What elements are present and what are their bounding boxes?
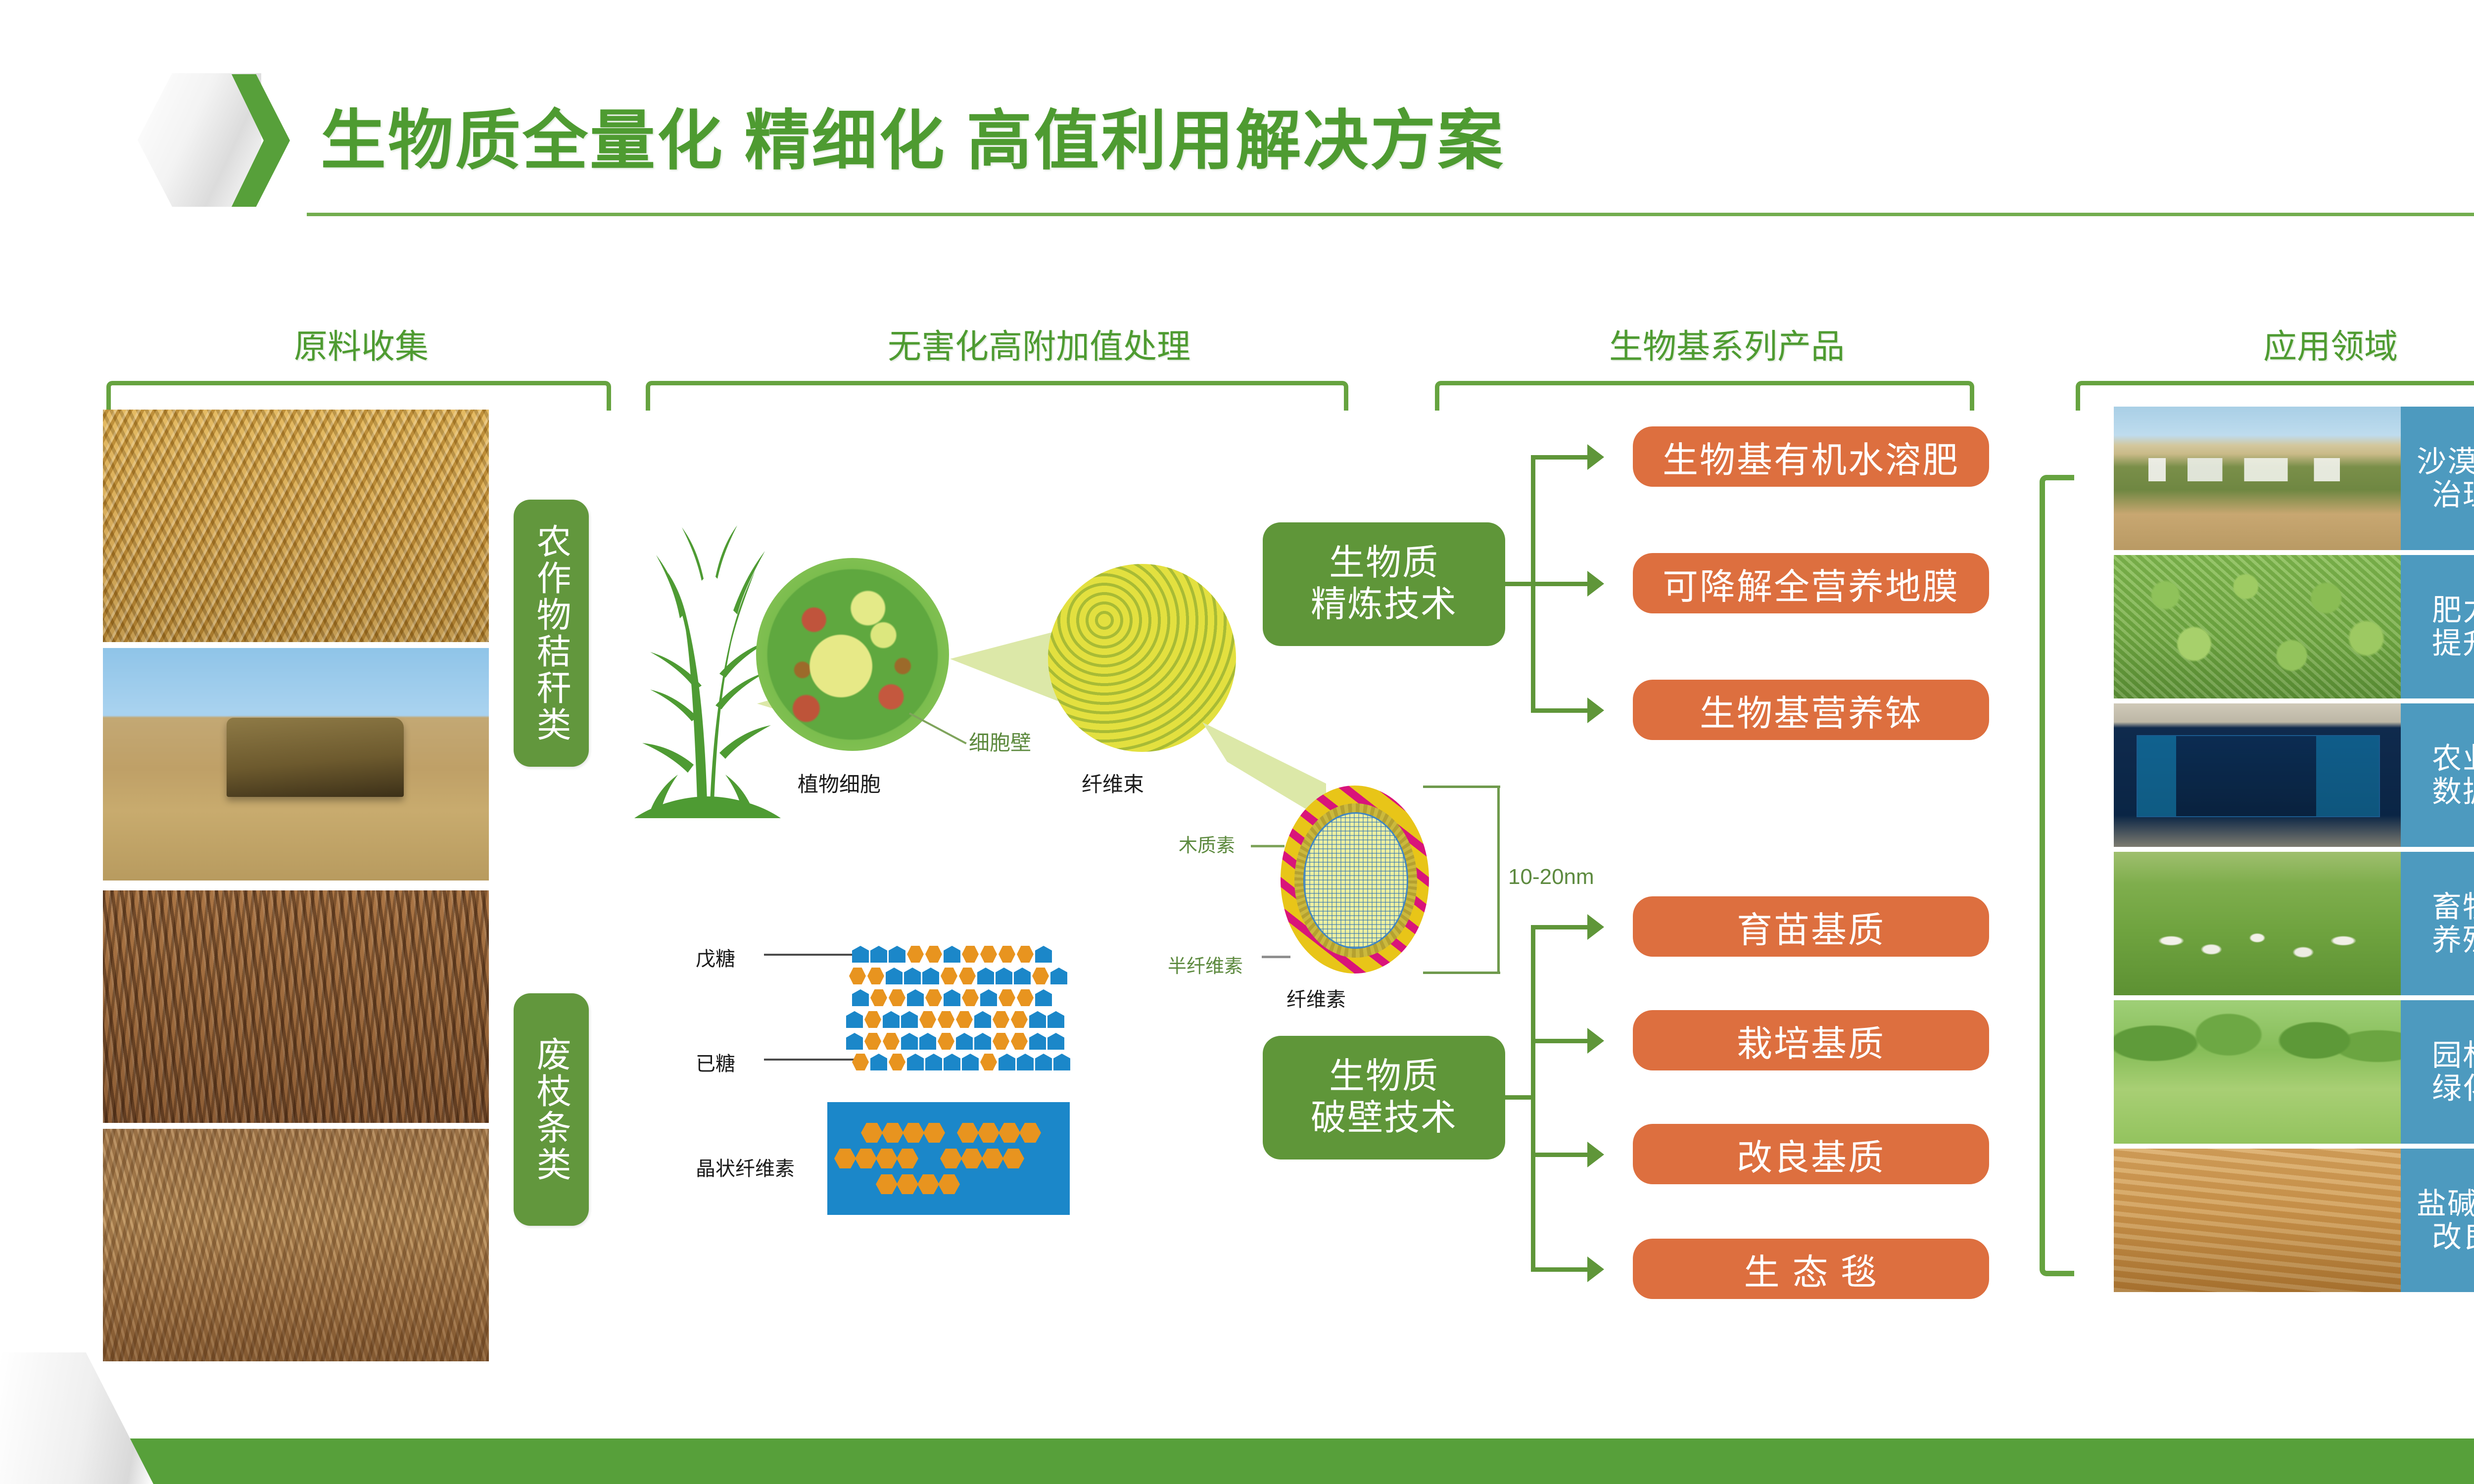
lignin-callout-line <box>1251 845 1285 847</box>
product-pill-organic-fertilizer[interactable]: 生物基有机水溶肥 <box>1633 426 1989 487</box>
dimension-tick-bottom <box>1423 972 1500 974</box>
arrow-icon-wallbreaking-2 <box>1587 1028 1604 1054</box>
application-tag-livestock[interactable]: 畜牧 养殖 <box>2401 852 2474 995</box>
connector-refining-stem <box>1505 582 1535 586</box>
column-header-products: 生物基系列产品 <box>1450 319 2004 368</box>
connector-refining-branch-1 <box>1531 455 1590 460</box>
bracket-raw-material <box>106 381 611 411</box>
product-pill-cultivation-substrate[interactable]: 栽培基质 <box>1633 1010 1989 1070</box>
tech-pill-wallbreaking[interactable]: 生物质 破壁技术 <box>1263 1036 1505 1159</box>
label-dimension: 10-20nm <box>1508 865 1594 889</box>
application-saline-line2: 改良 <box>2432 1220 2474 1253</box>
sugar-row <box>852 989 1053 1006</box>
product-pill-ecological-blanket[interactable]: 生 态 毯 <box>1633 1239 1989 1299</box>
connector-refining-branch-2 <box>1531 582 1590 586</box>
application-tag-landscaping[interactable]: 园林 绿化 <box>2401 1000 2474 1144</box>
application-saline-line1: 盐碱地 <box>2417 1187 2474 1220</box>
plant-cell-illustration <box>756 558 949 751</box>
application-livestock-line2: 养殖 <box>2432 924 2474 957</box>
photo-cabbage-field <box>2114 555 2401 698</box>
fiber-bundle-illustration <box>1048 564 1236 752</box>
tech-pill-refining[interactable]: 生物质 精炼技术 <box>1263 522 1505 646</box>
connector-wallbreaking-branch-4 <box>1531 1267 1590 1272</box>
arrow-icon-refining-1 <box>1587 444 1604 470</box>
sugar-row <box>846 1011 1066 1028</box>
photo-park-landscaping <box>2114 1000 2401 1144</box>
label-plant-cell: 植物细胞 <box>798 768 881 798</box>
application-livestock-line1: 畜牧 <box>2432 890 2474 924</box>
photo-saline-land <box>2114 1149 2401 1292</box>
arrow-icon-refining-2 <box>1587 571 1604 597</box>
label-lignin: 木质素 <box>1179 830 1235 857</box>
raw-material-category-1-label: 农作物秸秆类 <box>514 500 589 767</box>
cellulose-core <box>1303 812 1408 949</box>
crystalline-cellulose-illustration <box>827 1102 1070 1215</box>
label-hemicellulose: 半纤维素 <box>1168 951 1243 978</box>
sugar-row <box>852 1054 1072 1070</box>
slide-canvas: 生物质全量化 精细化 高值利用解决方案 原料收集 无害化高附加值处理 生物基系列… <box>0 0 2474 1484</box>
label-cellulose: 纤维素 <box>1286 983 1346 1012</box>
application-desertification-line2: 治理 <box>2432 478 2474 511</box>
arrow-icon-wallbreaking-1 <box>1587 914 1604 940</box>
connector-wallbreaking-branch-2 <box>1531 1039 1590 1043</box>
cell-wall-callout-line <box>909 712 967 744</box>
tech-wallbreaking-line1: 生物质 <box>1329 1056 1439 1098</box>
application-agri-data-line2: 数据 <box>2432 775 2474 808</box>
label-fiber-bundle: 纤维束 <box>1082 768 1144 798</box>
hexose-lead-line <box>764 1059 854 1061</box>
product-pill-improvement-substrate[interactable]: 改良基质 <box>1633 1124 1989 1184</box>
label-hexose: 已糖 <box>696 1048 735 1076</box>
label-pentose: 戊糖 <box>696 943 735 972</box>
application-fertility-line2: 提升 <box>2432 627 2474 660</box>
sugar-row <box>849 968 1069 984</box>
connector-wallbreaking-branch-3 <box>1531 1153 1590 1157</box>
photo-straw-bale-field <box>103 648 489 881</box>
photo-agriculture-data-center <box>2114 703 2401 847</box>
application-tag-desertification[interactable]: 沙漠化 治理 <box>2401 407 2474 550</box>
connector-wallbreaking-stem <box>1505 1095 1535 1100</box>
sugar-row <box>852 946 1053 963</box>
raw-material-category-2-label: 废枝条类 <box>514 993 589 1226</box>
column-header-raw-material: 原料收集 <box>188 319 534 368</box>
label-cell-wall: 细胞壁 <box>969 726 1031 756</box>
label-crystalline-cellulose: 晶状纤维素 <box>696 1153 795 1181</box>
title-underline-divider <box>307 213 2474 216</box>
connector-refining-branch-3 <box>1531 708 1590 713</box>
connector-wallbreaking-branch-1 <box>1531 925 1590 929</box>
application-landscaping-line2: 绿化 <box>2432 1072 2474 1105</box>
product-pill-degradable-mulch-film[interactable]: 可降解全营养地膜 <box>1633 553 1989 613</box>
column-header-applications: 应用领域 <box>2157 319 2474 368</box>
photo-sheep-pasture <box>2114 852 2401 995</box>
bracket-products <box>1435 381 1974 411</box>
hemicellulose-callout-line <box>1262 956 1290 958</box>
connector-wallbreaking-spine <box>1531 925 1535 1271</box>
application-agri-data-line1: 农业 <box>2432 742 2474 775</box>
column-header-processing: 无害化高附加值处理 <box>693 319 1385 368</box>
arrow-icon-wallbreaking-4 <box>1587 1256 1604 1282</box>
bracket-processing <box>646 381 1348 411</box>
application-landscaping-line1: 园林 <box>2432 1039 2474 1072</box>
application-tag-agri-data[interactable]: 农业 数据 <box>2401 703 2474 847</box>
application-fertility-line1: 肥力 <box>2432 594 2474 627</box>
product-pill-nutrient-pot[interactable]: 生物基营养钵 <box>1633 680 1989 740</box>
cellulose-cross-section-diagram: 木质素 半纤维素 纤维素 10-20nm <box>1197 772 1573 1029</box>
footer-wedge-decoration <box>0 1352 153 1484</box>
application-desertification-line1: 沙漠化 <box>2417 445 2474 478</box>
product-pill-seedling-substrate[interactable]: 育苗基质 <box>1633 896 1989 957</box>
bracket-applications <box>2076 381 2474 411</box>
application-tag-fertility[interactable]: 肥力 提升 <box>2401 555 2474 698</box>
arrow-icon-wallbreaking-3 <box>1587 1142 1604 1167</box>
dimension-tick-top <box>1423 786 1500 788</box>
page-title: 生物质全量化 精细化 高值利用解决方案 <box>321 88 1505 183</box>
tech-refining-line1: 生物质 <box>1329 543 1439 584</box>
pentose-lead-line <box>764 954 854 956</box>
photo-vineyard-prunings <box>103 1129 489 1361</box>
application-tag-saline-improvement[interactable]: 盐碱地 改良 <box>2401 1149 2474 1292</box>
tech-refining-line2: 精炼技术 <box>1311 584 1457 626</box>
dimension-line <box>1497 786 1500 974</box>
photo-pruned-branches <box>103 890 489 1123</box>
magnify-cone-cell-to-fiber <box>950 629 1064 703</box>
photo-dried-corn-stalks <box>103 410 489 642</box>
arrow-icon-refining-3 <box>1587 697 1604 723</box>
sugar-row <box>846 1033 1066 1050</box>
tech-wallbreaking-line2: 破壁技术 <box>1311 1098 1457 1139</box>
photo-desert-restoration <box>2114 407 2401 550</box>
bracket-application-group <box>2040 475 2074 1276</box>
footer-bar <box>0 1438 2474 1484</box>
sugar-chain-diagram: 戊糖 已糖 <box>692 921 1117 1084</box>
